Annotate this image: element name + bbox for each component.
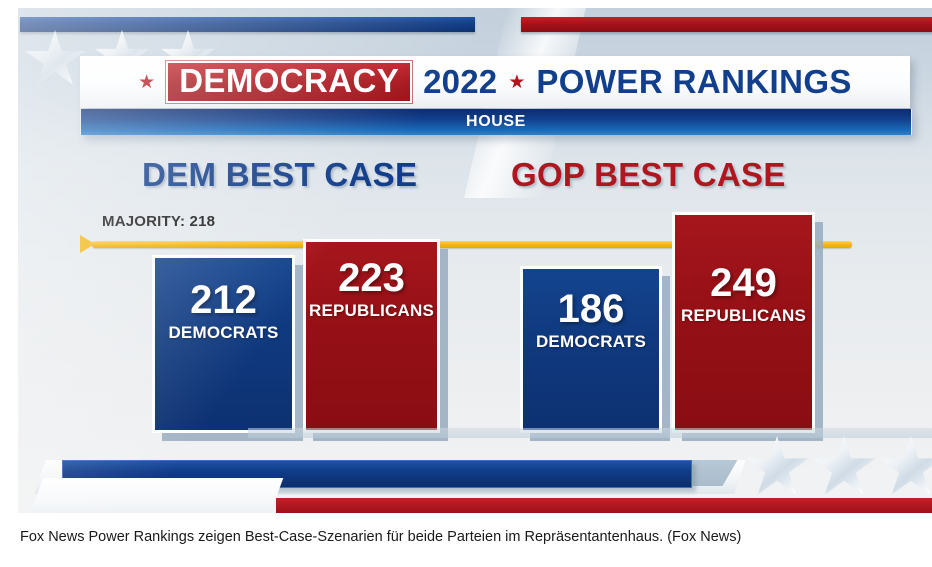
decorative-star-icon — [24, 30, 86, 90]
bar-dem-best-case-republicans: 223 REPUBLICANS — [303, 239, 440, 433]
top-blue-bar — [20, 17, 475, 32]
bar-value: 212 — [155, 280, 292, 320]
bar-gop-best-case-republicans: 249 REPUBLICANS — [672, 212, 815, 433]
bottom-red-bar — [276, 498, 932, 513]
star-icon: ★ — [138, 73, 155, 92]
star-icon: ★ — [508, 73, 525, 92]
decorative-star-icon — [878, 436, 932, 500]
graphic-header: ★ DEMOCRACY 2022 ★ POWER RANKINGS HOUSE — [80, 56, 910, 138]
brand-year: 2022 — [423, 63, 497, 101]
bottom-white-wedge — [29, 478, 284, 513]
brand-power-rankings: POWER RANKINGS — [536, 63, 851, 101]
chamber-label: HOUSE — [466, 113, 526, 131]
bar-label: DEMOCRATS — [523, 333, 659, 350]
bar-value: 249 — [675, 263, 812, 303]
gop-best-case-heading: GOP BEST CASE — [511, 156, 786, 194]
bar-value: 223 — [306, 258, 437, 298]
top-red-bar — [521, 17, 932, 32]
chamber-banner: HOUSE — [80, 109, 912, 135]
image-caption: Fox News Power Rankings zeigen Best-Case… — [20, 528, 920, 548]
shelf-strip — [248, 428, 932, 438]
majority-label: MAJORITY: 218 — [102, 213, 215, 230]
brand-democracy: DEMOCRACY — [166, 61, 412, 103]
bar-gop-best-case-democrats: 186 DEMOCRATS — [520, 266, 662, 433]
bar-label: REPUBLICANS — [675, 307, 812, 324]
bar-dem-best-case-democrats: 212 DEMOCRATS — [152, 255, 295, 433]
decorative-star-icon — [811, 436, 877, 500]
decorative-star-icon — [744, 436, 810, 500]
dem-best-case-heading: DEM BEST CASE — [142, 156, 417, 194]
header-title-row: ★ DEMOCRACY 2022 ★ POWER RANKINGS — [80, 56, 910, 108]
bar-label: REPUBLICANS — [306, 302, 437, 319]
bar-label: DEMOCRATS — [155, 324, 292, 341]
power-rankings-graphic: ★ DEMOCRACY 2022 ★ POWER RANKINGS HOUSE … — [18, 8, 932, 513]
bar-value: 186 — [523, 289, 659, 329]
